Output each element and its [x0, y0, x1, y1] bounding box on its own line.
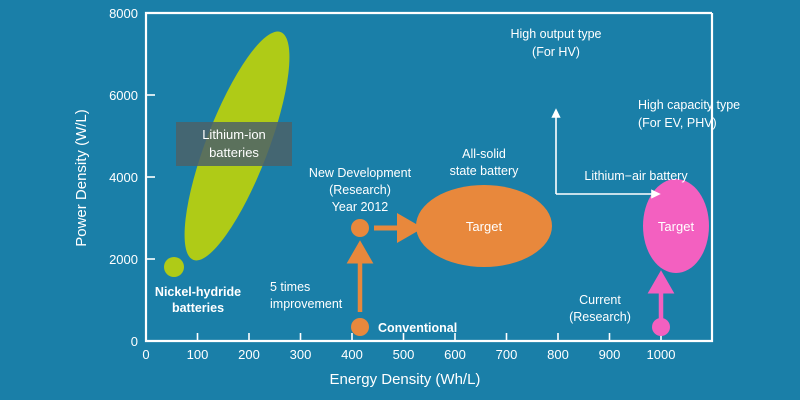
lithium-air-target-label: Target [658, 219, 695, 234]
nickel-hydride-label-line2: batteries [172, 301, 224, 315]
x-tick-700: 700 [496, 347, 518, 362]
high-output-type-label-line1: High output type [510, 27, 601, 41]
x-tick-0: 0 [142, 347, 149, 362]
five-times-improvement-line1: 5 times [270, 280, 310, 294]
point-new-development-research-2012 [351, 219, 369, 237]
point-conventional [351, 318, 369, 336]
x-tick-500: 500 [393, 347, 415, 362]
lithium-ion-label-group: Lithium-ion batteries [176, 122, 292, 166]
new-development-label-line1: New Development [309, 166, 412, 180]
high-output-type-label-line2: (For HV) [532, 45, 580, 59]
five-times-improvement-line2: improvement [270, 297, 343, 311]
new-development-label-line2: (Research) [329, 183, 391, 197]
all-solid-state-label-line2: state battery [450, 164, 520, 178]
battery-energy-power-scatter-chart: 0 2000 4000 6000 8000 Power Density (W/L… [0, 0, 800, 400]
high-capacity-type-label-line2: (For EV, PHV) [638, 116, 717, 130]
y-tick-0: 0 [131, 334, 138, 349]
lithium-ion-label-line1: Lithium-ion [202, 127, 266, 142]
x-tick-1000: 1000 [647, 347, 676, 362]
x-axis-title: Energy Density (Wh/L) [330, 371, 481, 388]
conventional-label: Conventional [378, 321, 457, 335]
y-tick-2000: 2000 [109, 252, 138, 267]
y-tick-8000: 8000 [109, 6, 138, 21]
x-tick-800: 800 [547, 347, 569, 362]
lithium-ion-label-line2: batteries [209, 145, 259, 160]
high-capacity-type-label-line1: High capacity type [638, 98, 740, 112]
lithium-air-label: Lithium−air battery [584, 169, 688, 183]
x-tick-200: 200 [238, 347, 260, 362]
all-solid-state-target-label: Target [466, 219, 503, 234]
current-research-label-line1: Current [579, 293, 621, 307]
point-current-research [652, 318, 670, 336]
x-tick-400: 400 [341, 347, 363, 362]
x-tick-600: 600 [444, 347, 466, 362]
y-tick-6000: 6000 [109, 88, 138, 103]
all-solid-state-label-line1: All-solid [462, 147, 506, 161]
region-nickel-hydride-batteries [164, 257, 184, 277]
nickel-hydride-label-line1: Nickel-hydride [155, 285, 241, 299]
chart-figure: 0 2000 4000 6000 8000 Power Density (W/L… [0, 0, 800, 400]
new-development-label-line3: Year 2012 [332, 200, 389, 214]
y-axis-title: Power Density (W/L) [73, 109, 90, 247]
x-tick-300: 300 [290, 347, 312, 362]
x-tick-100: 100 [187, 347, 209, 362]
current-research-label-line2: (Research) [569, 310, 631, 324]
x-tick-900: 900 [599, 347, 621, 362]
y-tick-4000: 4000 [109, 170, 138, 185]
